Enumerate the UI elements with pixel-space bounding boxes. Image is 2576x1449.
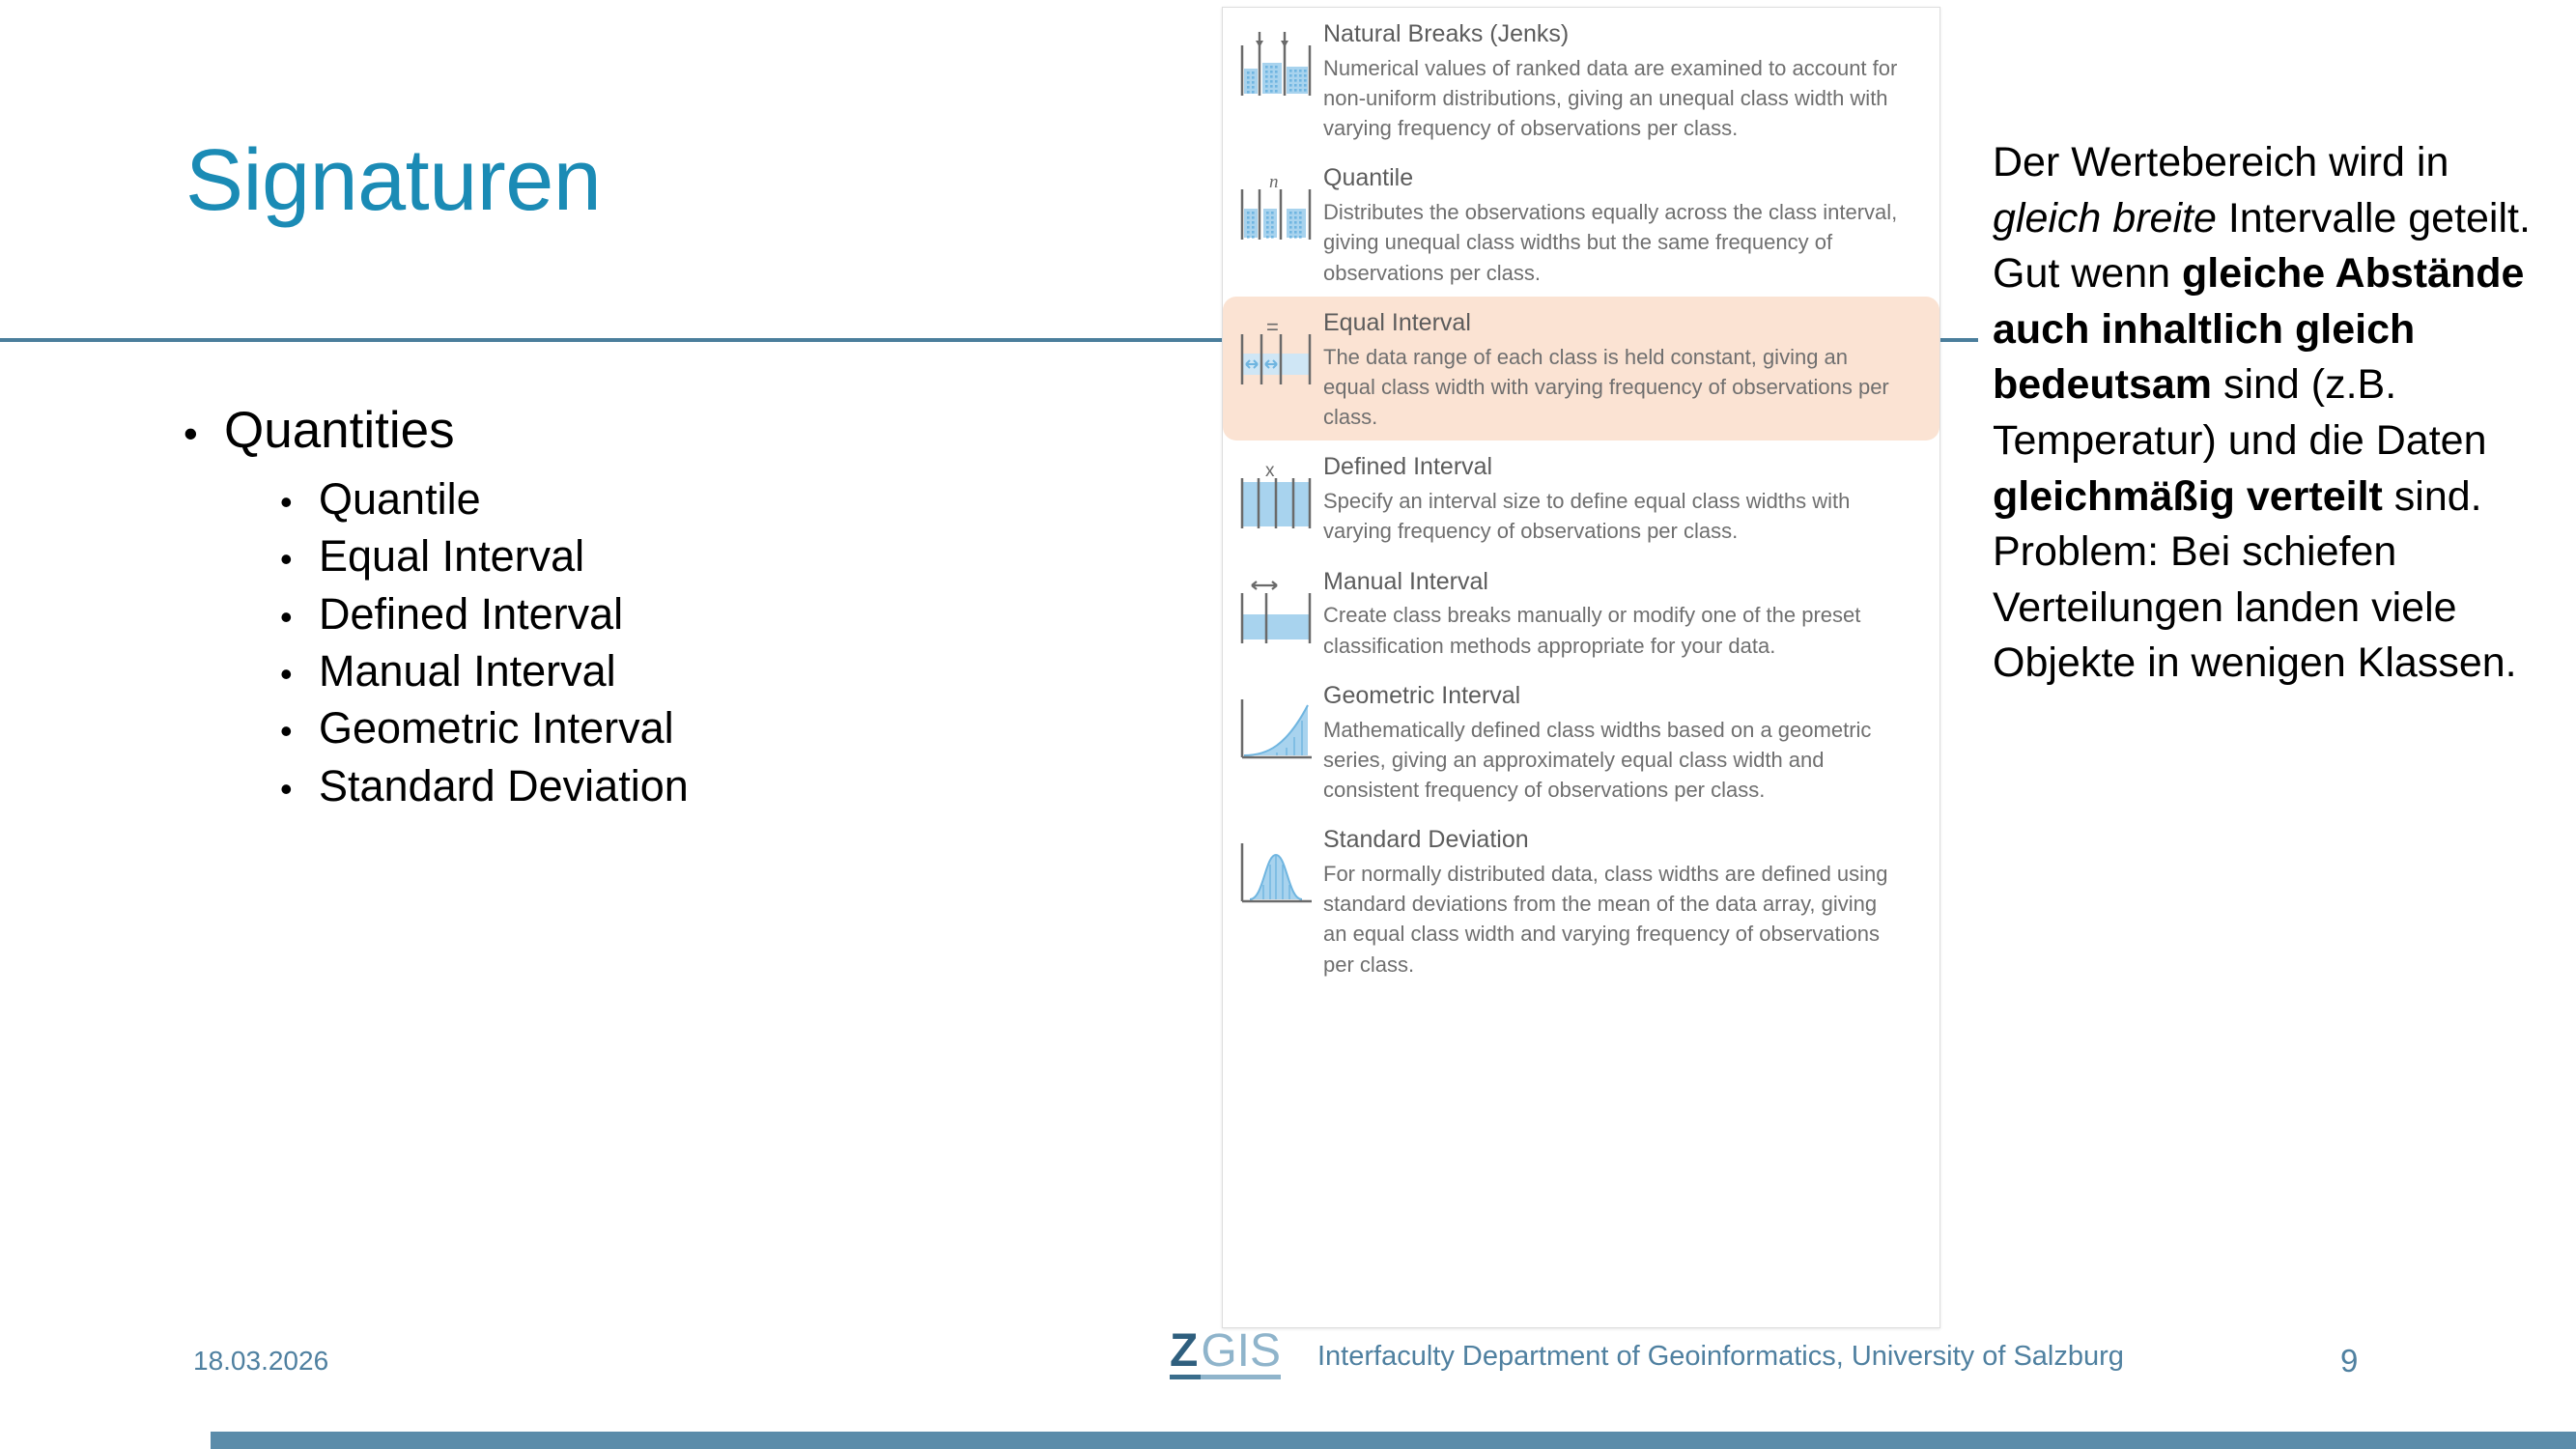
bullet-label: Standard Deviation (319, 757, 689, 814)
method-title: Natural Breaks (Jenks) (1323, 18, 1903, 51)
geometric-interval-icon (1234, 686, 1317, 769)
bullet-marker-icon: • (280, 714, 319, 749)
method-title: Geometric Interval (1323, 680, 1903, 713)
method-text-block: Geometric IntervalMathematically defined… (1317, 678, 1903, 805)
list-item-sub: •Geometric Interval (280, 699, 1053, 756)
method-text-block: Standard DeviationFor normally distribut… (1317, 822, 1903, 980)
list-item-sub: •Quantile (280, 470, 1053, 527)
method-title: Quantile (1323, 162, 1903, 195)
classification-method-item[interactable]: Standard DeviationFor normally distribut… (1223, 813, 1939, 988)
classification-method-item[interactable]: Manual IntervalCreate class breaks manua… (1223, 555, 1939, 669)
bullet-label: Defined Interval (319, 585, 623, 642)
svg-text:x: x (1265, 461, 1275, 481)
classification-method-item[interactable]: Geometric IntervalMathematically defined… (1223, 669, 1939, 813)
title-divider-left (0, 338, 1225, 342)
svg-text:n: n (1269, 172, 1279, 192)
bullet-marker-icon: • (280, 485, 319, 520)
method-title: Equal Interval (1323, 307, 1903, 340)
bullet-list: • Quantities •Quantile•Equal Interval•De… (184, 398, 1053, 814)
method-description: Numerical values of ranked data are exam… (1323, 53, 1903, 144)
bottom-accent-bar (0, 1432, 2576, 1449)
bullet-marker-icon: • (280, 657, 319, 692)
footer-date: 18.03.2026 (193, 1346, 328, 1377)
bullet-label: Quantile (319, 470, 481, 527)
classification-methods-panel[interactable]: Natural Breaks (Jenks)Numerical values o… (1222, 7, 1940, 1328)
equal-interval-icon: = (1234, 313, 1317, 396)
method-title: Standard Deviation (1323, 824, 1903, 857)
bullet-marker-icon: • (184, 413, 224, 454)
page-title: Signaturen (185, 135, 601, 227)
defined-interval-icon: x (1234, 457, 1317, 540)
manual-interval-icon (1234, 572, 1317, 655)
natural-breaks-icon (1234, 24, 1317, 107)
method-text-block: Defined IntervalSpecify an interval size… (1317, 449, 1903, 546)
list-item-sub: •Standard Deviation (280, 757, 1053, 814)
method-description: For normally distributed data, class wid… (1323, 859, 1903, 980)
explanation-text: Der Wertebereich wird in gleich breite I… (1993, 135, 2543, 692)
bullet-marker-icon: • (280, 772, 319, 807)
sub-bullet-list: •Quantile•Equal Interval•Defined Interva… (184, 470, 1053, 814)
bullet-marker-icon: • (280, 542, 319, 577)
method-text-block: Equal IntervalThe data range of each cla… (1317, 305, 1903, 432)
classification-method-item[interactable]: =Equal IntervalThe data range of each cl… (1223, 297, 1939, 440)
list-item-sub: •Manual Interval (280, 642, 1053, 699)
method-text-block: Natural Breaks (Jenks)Numerical values o… (1317, 16, 1903, 143)
bullet-label: Manual Interval (319, 642, 616, 699)
bottom-accent-bar-gap (0, 1432, 211, 1449)
zgis-logo: Z GIS (1170, 1328, 1281, 1379)
method-text-block: Manual IntervalCreate class breaks manua… (1317, 564, 1903, 661)
classification-method-item[interactable]: Natural Breaks (Jenks)Numerical values o… (1223, 8, 1939, 152)
method-description: Specify an interval size to define equal… (1323, 486, 1903, 546)
method-description: The data range of each class is held con… (1323, 342, 1903, 433)
method-title: Manual Interval (1323, 566, 1903, 599)
list-item-quantities: • Quantities (184, 398, 1053, 465)
footer-page-number: 9 (2340, 1343, 2358, 1379)
explanation-segment: gleichmäßig verteilt (1993, 473, 2383, 520)
bullet-marker-icon: • (280, 600, 319, 635)
method-description: Mathematically defined class widths base… (1323, 715, 1903, 806)
method-description: Distributes the observations equally acr… (1323, 197, 1903, 288)
logo-letter-z: Z (1170, 1328, 1201, 1379)
svg-text:=: = (1266, 315, 1279, 339)
bullet-label: Geometric Interval (319, 699, 674, 756)
logo-letters-gis: GIS (1201, 1328, 1281, 1379)
list-item-sub: •Defined Interval (280, 585, 1053, 642)
classification-method-item[interactable]: nQuantileDistributes the observations eq… (1223, 152, 1939, 296)
standard-deviation-icon (1234, 830, 1317, 913)
classification-method-item[interactable]: xDefined IntervalSpecify an interval siz… (1223, 440, 1939, 554)
method-text-block: QuantileDistributes the observations equ… (1317, 160, 1903, 287)
slide-canvas: Signaturen • Quantities •Quantile•Equal … (0, 0, 2576, 1449)
method-description: Create class breaks manually or modify o… (1323, 600, 1903, 660)
method-title: Defined Interval (1323, 451, 1903, 484)
bullet-label: Equal Interval (319, 527, 584, 584)
explanation-segment: Der Wertebereich wird in (1993, 139, 2449, 185)
explanation-segment: gleich breite (1993, 195, 2217, 241)
footer-organization: Interfaculty Department of Geoinformatic… (1317, 1341, 2124, 1373)
list-item-sub: •Equal Interval (280, 527, 1053, 584)
bullet-label: Quantities (224, 398, 455, 465)
quantile-icon: n (1234, 168, 1317, 251)
